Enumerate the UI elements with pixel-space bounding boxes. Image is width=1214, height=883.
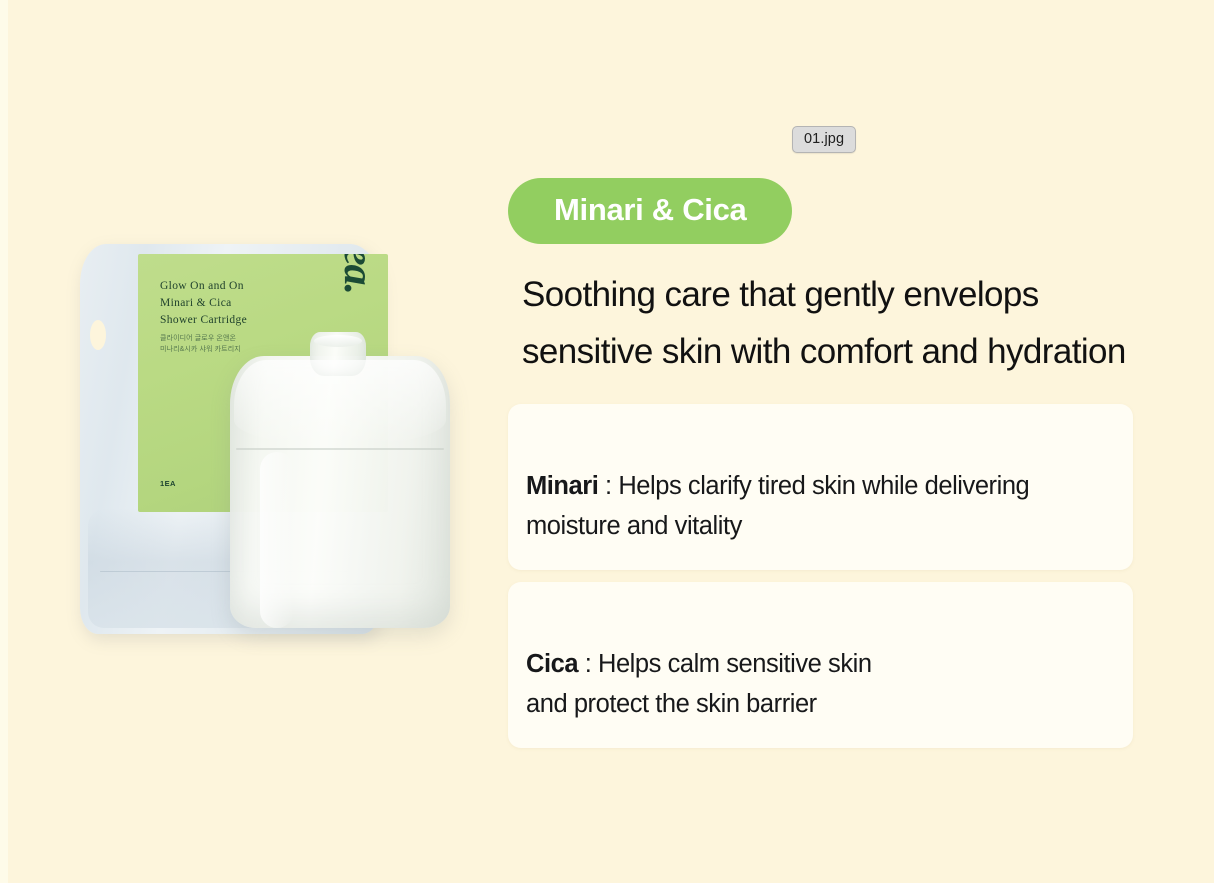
category-badge: Minari & Cica <box>508 178 792 244</box>
content-column: Minari & Cica Soothing care that gently … <box>508 178 1133 748</box>
benefit-text-minari: Minari : Helps clarify tired skin while … <box>526 426 1107 546</box>
cartridge-shoulder-highlight <box>234 360 446 446</box>
benefit-separator-minari: : <box>598 472 618 500</box>
filename-badge[interactable]: 01.jpg <box>792 126 856 153</box>
benefit-separator-cica: : <box>578 650 598 678</box>
benefit-term-cica: Cica <box>526 650 578 678</box>
cartridge-bottle <box>230 356 450 628</box>
benefit-card-cica: Cica : Helps calm sensitive skin and pro… <box>508 582 1133 748</box>
pouch-label-subtitle-korean: 클라이디어 글로우 온앤온 미나리&시카 샤워 카트리지 <box>160 333 241 355</box>
cartridge-neck-rim <box>314 335 362 347</box>
pouch-label-brandmark: ea. <box>334 254 382 294</box>
cartridge-seam-line <box>236 448 444 450</box>
pouch-label-title: Glow On and On Minari & Cica Shower Cart… <box>160 278 247 329</box>
product-detail-page: 01.jpg Glow On and On Minari & Cica Show… <box>0 0 1214 883</box>
page-headline: Soothing care that gently envelops sensi… <box>522 266 1133 380</box>
pouch-notch-left <box>90 320 106 350</box>
benefit-text-cica: Cica : Helps calm sensitive skin and pro… <box>526 604 1107 724</box>
product-image: Glow On and On Minari & Cica Shower Cart… <box>62 228 482 648</box>
benefit-card-list: Minari : Helps clarify tired skin while … <box>508 404 1133 748</box>
benefit-card-minari: Minari : Helps clarify tired skin while … <box>508 404 1133 570</box>
pouch-label-quantity: 1EA <box>160 479 176 488</box>
page-left-edge-strip <box>0 0 8 883</box>
benefit-term-minari: Minari <box>526 472 598 500</box>
cartridge-side-highlight <box>260 452 294 628</box>
